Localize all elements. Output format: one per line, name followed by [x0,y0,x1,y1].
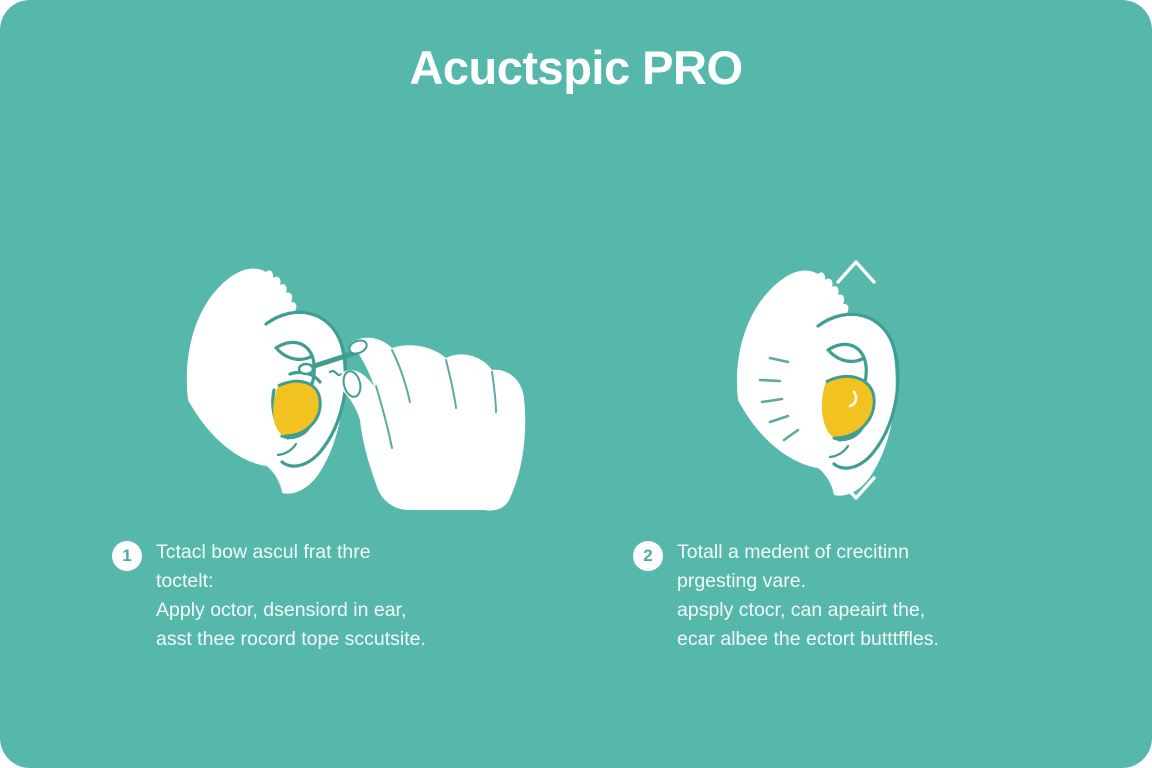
step-item-2: 2 Totall a medent of crecitinn prgesting… [633,538,1103,654]
poster-card: Acuctspic PRO [0,0,1152,768]
step-number-badge: 1 [112,541,142,571]
illustration-ear-after-treatment [730,250,980,510]
hand-holding-tool [339,338,525,511]
step-number-badge: 2 [633,541,663,571]
chevron-up-icon [838,262,874,282]
step-description: Totall a medent of crecitinn prgesting v… [677,538,939,654]
illustration-ear-cleaning-with-tool [170,250,540,510]
step-item-1: 1 Tctacl bow ascul frat thre toctelt: Ap… [112,538,582,654]
steps-row: 1 Tctacl bow ascul frat thre toctelt: Ap… [0,538,1152,698]
head-profile-silhouette [737,271,896,496]
illustration-row [0,250,1152,510]
page-title: Acuctspic PRO [0,42,1152,94]
step-description: Tctacl bow ascul frat thre toctelt: Appl… [156,538,426,654]
